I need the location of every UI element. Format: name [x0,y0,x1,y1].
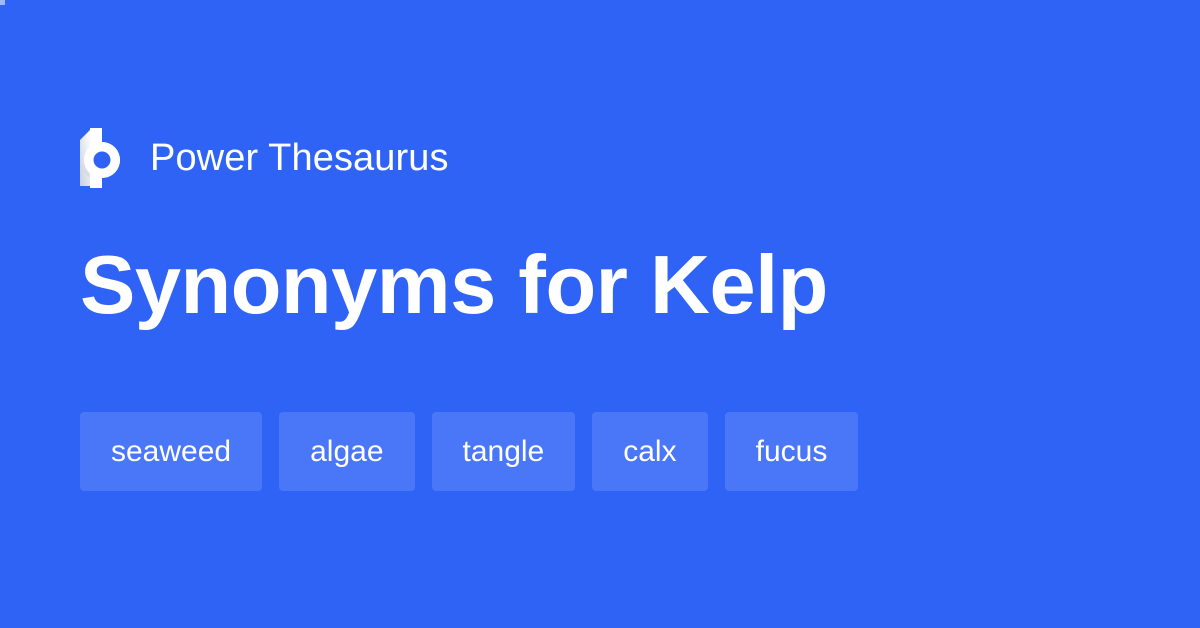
card-corner-artifact [0,0,5,5]
social-share-card: Power Thesaurus Synonyms for Kelp seawee… [0,0,1200,628]
synonym-chip[interactable]: seaweed [80,412,262,491]
power-thesaurus-b-logo-icon [80,128,128,188]
synonym-chip[interactable]: fucus [725,412,859,491]
synonym-chip[interactable]: tangle [432,412,576,491]
synonym-chip[interactable]: calx [592,412,707,491]
synonym-chip-list: seaweed algae tangle calx fucus [80,412,858,491]
brand-lockup[interactable]: Power Thesaurus [80,126,449,190]
page-title: Synonyms for Kelp [80,243,828,326]
card-content: Power Thesaurus Synonyms for Kelp seawee… [80,0,1120,628]
synonym-chip[interactable]: algae [279,412,414,491]
brand-name: Power Thesaurus [150,139,449,177]
